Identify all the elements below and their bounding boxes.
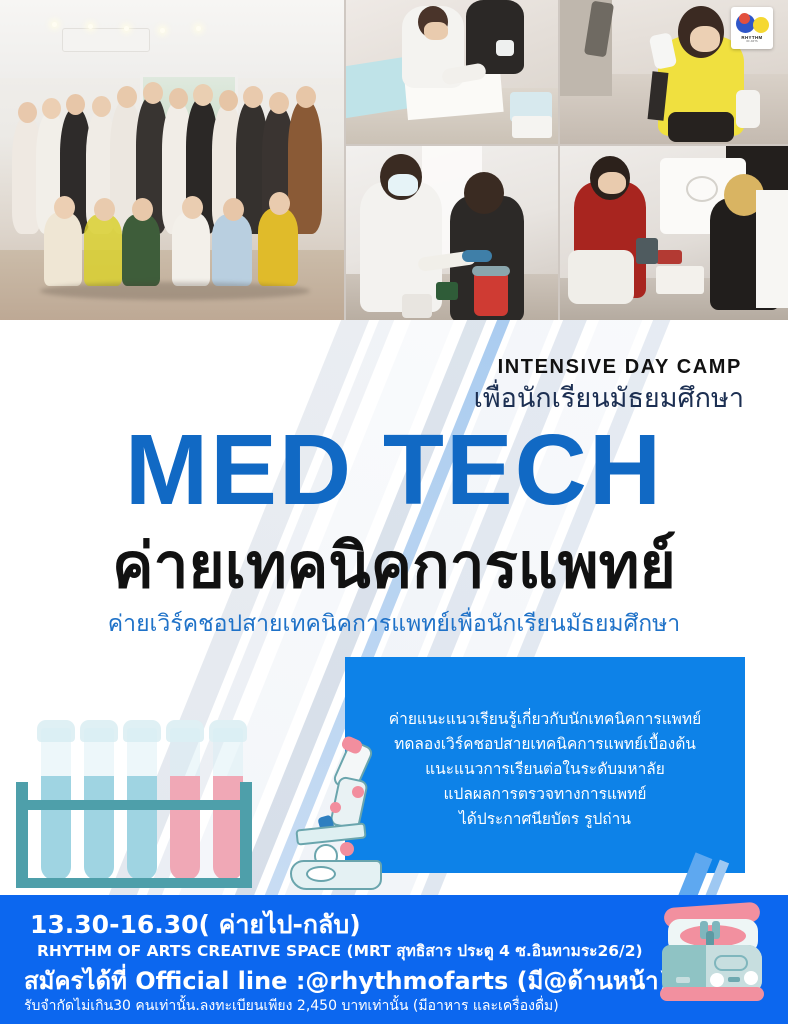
thai-title: ค่ายเทคนิคการแพทย์ — [0, 535, 788, 597]
test-tube-rack-icon — [8, 700, 338, 895]
poster-root: RHYTHM OF ARTS INTENSIVE DAY CAMP เพื่อน… — [0, 0, 788, 1024]
description-line: แปลผลการตรวจทางการแพทย์ — [345, 782, 745, 807]
footer-venue: RHYTHM OF ARTS CREATIVE SPACE (MRT สุทธิ… — [37, 938, 643, 963]
rhythm-logo: RHYTHM OF ARTS — [731, 7, 773, 49]
footer-note: รับจำกัดไม่เกิน30 คนเท่านั้น.ลงทะเบียนเพ… — [24, 995, 559, 1017]
thai-kicker-text: เพื่อนักเรียนมัธยมศึกษา — [474, 376, 744, 419]
description-line: ทดลองเวิร์คชอปสายเทคนิคการแพทย์เบื้องต้น — [345, 732, 745, 757]
page-title: MED TECH — [0, 420, 788, 520]
centrifuge-icon — [652, 903, 770, 1007]
photo-students-lab-activity — [560, 146, 788, 322]
description-lines: ค่ายแนะแนวเรียนรู้เกี่ยวกับนักเทคนิคการแ… — [345, 707, 745, 833]
logo-subtitle: OF ARTS — [746, 41, 758, 43]
logo-circles-icon — [735, 13, 769, 35]
thai-subtitle: ค่ายเวิร์คชอปสายเทคนิคการแพทย์เพื่อนักเร… — [0, 606, 788, 642]
description-line: ค่ายแนะแนวเรียนรู้เกี่ยวกับนักเทคนิคการแ… — [345, 707, 745, 732]
description-card: ค่ายแนะแนวเรียนรู้เกี่ยวกับนักเทคนิคการแ… — [345, 657, 745, 873]
photo-collage: RHYTHM OF ARTS — [0, 0, 788, 322]
description-line: ได้ประกาศนียบัตร รูปถ่าน — [345, 807, 745, 832]
photo-nurse-drawing-blood — [346, 146, 558, 322]
microscope-icon — [290, 742, 386, 894]
photo-workshop-blood-sampling-floor — [346, 0, 558, 144]
footer-band: 13.30-16.30( ค่ายไป-กลับ) RHYTHM OF ARTS… — [0, 895, 788, 1024]
photo-group-photo-students — [0, 0, 344, 322]
description-line: แนะแนวการเรียนต่อในระดับมหาลัย — [345, 757, 745, 782]
